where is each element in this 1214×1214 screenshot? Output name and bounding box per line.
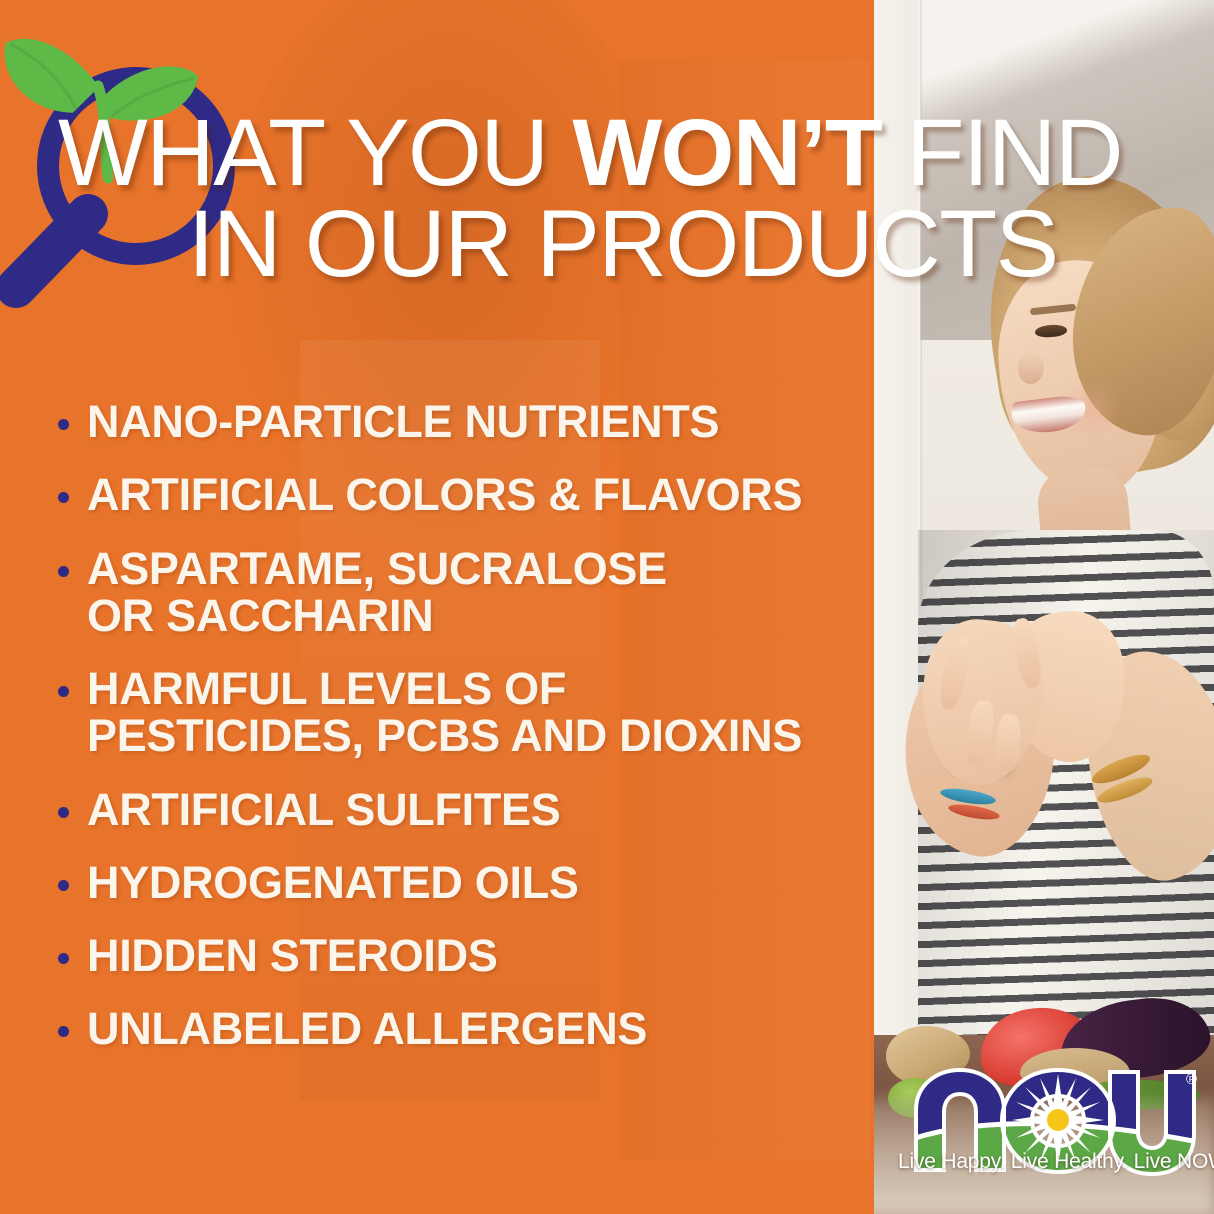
list-item-label: UNLABELED ALLERGENS: [87, 1005, 647, 1052]
excluded-ingredients-list: NANO-PARTICLE NUTRIENTS ARTIFICIAL COLOR…: [58, 398, 878, 1079]
list-item-label: NANO-PARTICLE NUTRIENTS: [87, 398, 719, 445]
list-item-label: HYDROGENATED OILS: [87, 859, 579, 906]
bullet-dot-icon: [58, 807, 69, 818]
marketing-graphic: WHAT YOU WON’T FIND IN OUR PRODUCTS NANO…: [0, 0, 1214, 1214]
list-item-label: HIDDEN STEROIDS: [87, 932, 498, 979]
bullet-dot-icon: [58, 1026, 69, 1037]
bullet-dot-icon: [58, 686, 69, 697]
headline-part-1: WHAT YOU: [58, 100, 572, 206]
list-item: ASPARTAME, SUCRALOSE OR SACCHARIN: [58, 545, 878, 640]
bullet-dot-icon: [58, 492, 69, 503]
list-item-label: ASPARTAME, SUCRALOSE OR SACCHARIN: [87, 545, 667, 640]
list-item: HARMFUL LEVELS OF PESTICIDES, PCBS AND D…: [58, 665, 878, 760]
page-title: WHAT YOU WON’T FIND IN OUR PRODUCTS: [58, 108, 1198, 290]
list-item: UNLABELED ALLERGENS: [58, 1005, 878, 1052]
list-item: HYDROGENATED OILS: [58, 859, 878, 906]
list-item: NANO-PARTICLE NUTRIENTS: [58, 398, 878, 445]
bullet-dot-icon: [58, 953, 69, 964]
headline-part-3: FIND: [881, 100, 1122, 206]
list-item: HIDDEN STEROIDS: [58, 932, 878, 979]
list-item: ARTIFICIAL SULFITES: [58, 786, 878, 833]
registered-trademark: ®: [1186, 1071, 1197, 1088]
headline-emphasis: WON’T: [572, 100, 881, 206]
bullet-dot-icon: [58, 880, 69, 891]
bullet-dot-icon: [58, 566, 69, 577]
bullet-dot-icon: [58, 419, 69, 430]
list-item-label: HARMFUL LEVELS OF PESTICIDES, PCBS AND D…: [87, 665, 802, 760]
headline-line-2: IN OUR PRODUCTS: [58, 199, 1198, 290]
list-item-label: ARTIFICIAL COLORS & FLAVORS: [87, 471, 802, 518]
list-item-label: ARTIFICIAL SULFITES: [87, 786, 560, 833]
list-item: ARTIFICIAL COLORS & FLAVORS: [58, 471, 878, 518]
brand-tagline: Live Happy. Live Healthy. Live NOW.: [898, 1150, 1198, 1174]
